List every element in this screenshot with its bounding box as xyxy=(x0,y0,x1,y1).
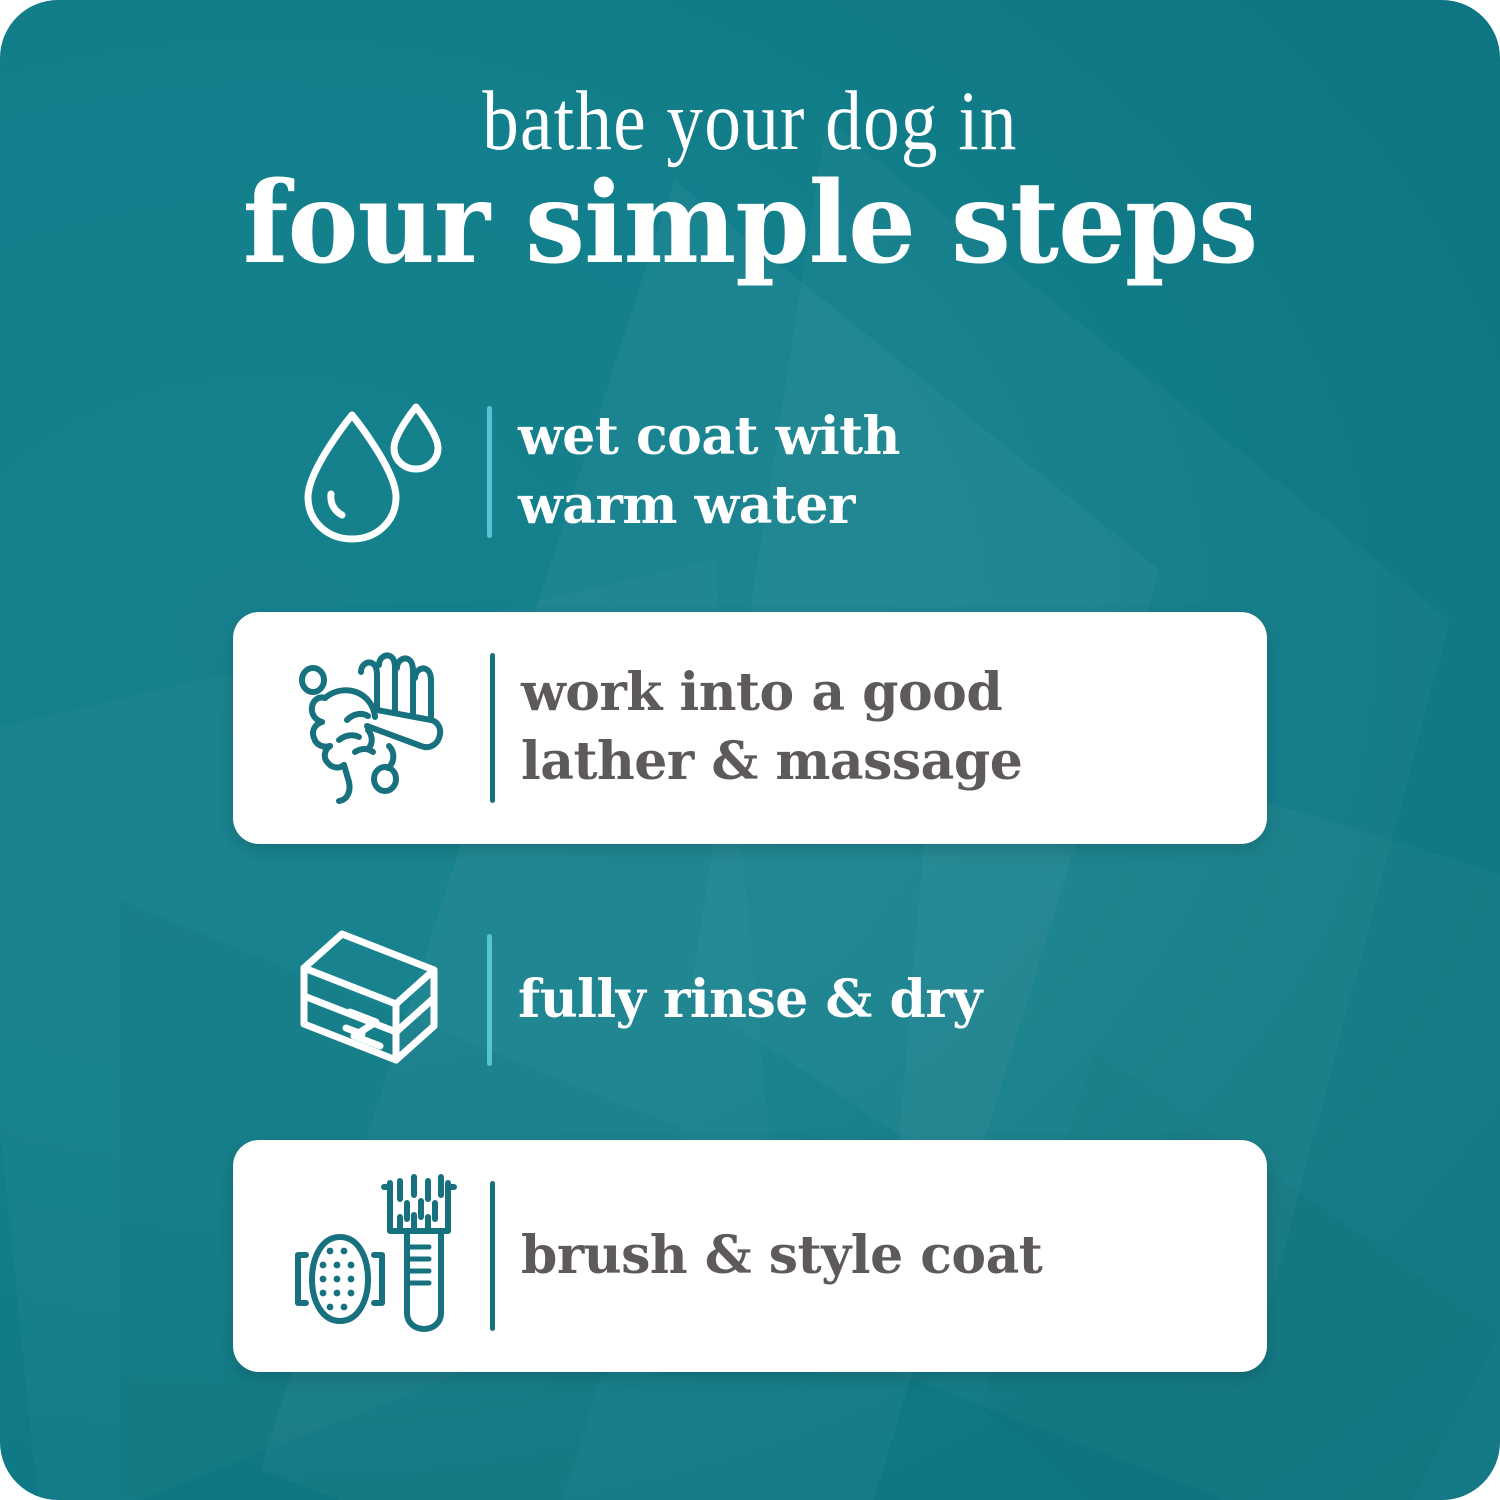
step-label-line-2: warm water xyxy=(518,472,900,541)
page-title: bathe your dog in four simple steps xyxy=(0,78,1500,281)
step-label-2: work into a good lather & massage xyxy=(521,659,1022,796)
step-label-line-1: fully rinse & dry xyxy=(518,966,982,1035)
hands-lather-icon xyxy=(278,648,468,808)
step-divider xyxy=(487,934,492,1066)
teal-panel: bathe your dog in four simple steps wet … xyxy=(0,0,1500,1500)
step-divider xyxy=(490,653,495,803)
title-line-1: bathe your dog in xyxy=(105,78,1395,165)
water-drop-icon xyxy=(275,397,465,547)
step-label-line-2: lather & massage xyxy=(521,728,1022,797)
folded-towels-icon xyxy=(275,924,465,1076)
step-label-line-1: brush & style coat xyxy=(521,1222,1042,1291)
brush-and-comb-icon xyxy=(278,1171,468,1341)
step-item-1: wet coat with warm water xyxy=(230,368,1270,576)
step-divider xyxy=(487,406,492,538)
step-item-2: work into a good lather & massage xyxy=(233,612,1267,844)
infographic-canvas: bathe your dog in four simple steps wet … xyxy=(0,0,1500,1500)
step-item-3: fully rinse & dry xyxy=(230,896,1270,1104)
step-label-line-1: work into a good xyxy=(521,659,1022,728)
step-label-1: wet coat with warm water xyxy=(518,403,900,540)
title-line-2: four simple steps xyxy=(38,167,1463,281)
step-divider xyxy=(490,1181,495,1331)
steps-list: wet coat with warm water xyxy=(0,368,1500,1372)
step-label-3: fully rinse & dry xyxy=(518,966,982,1035)
step-item-4: brush & style coat xyxy=(233,1140,1267,1372)
step-label-4: brush & style coat xyxy=(521,1222,1042,1291)
step-label-line-1: wet coat with xyxy=(518,403,900,472)
